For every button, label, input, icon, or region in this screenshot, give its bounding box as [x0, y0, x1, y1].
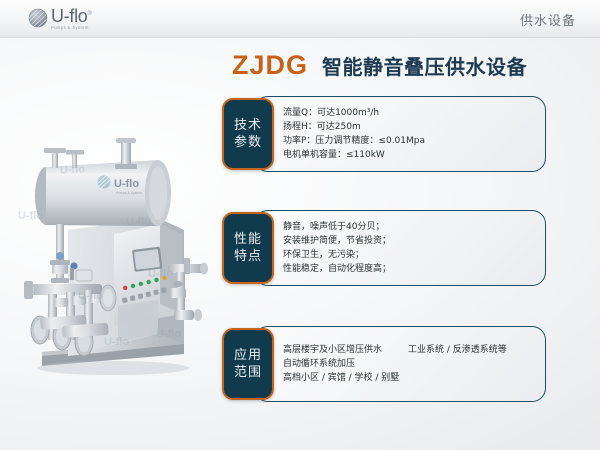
- info-block-applications: 高层楼宇及小区增压供水工业系统 / 反渗透系统等 自动循环系统加压 高档小区 /…: [222, 326, 546, 402]
- label-line-2: 参数: [234, 134, 262, 151]
- spec-line: 流量Q：可达1000m³/h: [283, 106, 425, 120]
- logo-wordmark: U-flo®: [51, 7, 92, 25]
- info-block-features: 静音，噪声低于40分贝； 安装维护简便，节省投资； 环保卫生，无污染； 性能稳定…: [222, 210, 546, 286]
- feature-line: 性能稳定，自动化程度高；: [283, 262, 391, 276]
- info-label-specifications: 技术 参数: [222, 98, 274, 170]
- spec-line: 功率P：压力调节精度：≤0.01Mpa: [283, 134, 425, 148]
- svg-text:Pumps & System: Pumps & System: [116, 191, 142, 195]
- info-text: 高层楼宇及小区增压供水工业系统 / 反渗透系统等 自动循环系统加压 高档小区 /…: [283, 343, 507, 385]
- feature-line: 环保卫生，无污染；: [283, 248, 391, 262]
- label-line-1: 应用: [234, 347, 262, 364]
- info-text: 流量Q：可达1000m³/h 扬程H：可达250m 功率P：压力调节精度：≤0.…: [283, 106, 425, 162]
- label-line-2: 范围: [234, 364, 262, 381]
- feature-line: 静音，噪声低于40分贝；: [283, 220, 391, 234]
- logo-tagline: Pumps & System: [51, 26, 92, 30]
- feature-line: 安装维护简便，节省投资；: [283, 234, 391, 248]
- application-line-primary: 高层楼宇及小区增压供水: [283, 345, 382, 355]
- product-name: 智能静音叠压供水设备: [322, 51, 527, 80]
- label-line-2: 特点: [234, 248, 262, 265]
- registered-mark: ®: [88, 11, 92, 17]
- product-code: ZJDG: [232, 50, 308, 81]
- info-body: 高层楼宇及小区增压供水工业系统 / 反渗透系统等 自动循环系统加压 高档小区 /…: [254, 326, 546, 402]
- brand-logo[interactable]: U-flo® Pumps & System: [28, 7, 92, 30]
- info-body: 静音，噪声低于40分贝； 安装维护简便，节省投资； 环保卫生，无污染； 性能稳定…: [254, 210, 546, 286]
- label-line-1: 性能: [234, 231, 262, 248]
- info-body: 流量Q：可达1000m³/h 扬程H：可达250m 功率P：压力调节精度：≤0.…: [254, 96, 546, 172]
- application-line: 高层楼宇及小区增压供水工业系统 / 反渗透系统等: [283, 343, 507, 357]
- category-label: 供水设备: [520, 10, 576, 29]
- spec-line: 扬程H：可达250m: [283, 120, 425, 134]
- info-label-features: 性能 特点: [222, 212, 274, 284]
- application-line-extra: 工业系统 / 反渗透系统等: [408, 345, 507, 355]
- application-line: 高档小区 / 宾馆 / 学校 / 别墅: [283, 371, 507, 385]
- globe-sphere-icon: [28, 8, 48, 28]
- info-text: 静音，噪声低于40分贝； 安装维护简便，节省投资； 环保卫生，无污染； 性能稳定…: [283, 220, 391, 276]
- product-spec-slide: U-flo® Pumps & System 供水设备 ZJDG 智能静音叠压供水…: [0, 0, 600, 450]
- equipment-illustration: U-flo Pumps & System: [8, 138, 213, 378]
- product-image: U-flo Pumps & System: [8, 138, 213, 378]
- tank-logo-text: U-flo: [114, 178, 139, 190]
- page-title: ZJDG 智能静音叠压供水设备: [232, 50, 527, 81]
- label-line-1: 技术: [234, 117, 262, 134]
- info-block-specifications: 流量Q：可达1000m³/h 扬程H：可达250m 功率P：压力调节精度：≤0.…: [222, 96, 546, 172]
- spec-line: 电机单机容量：≤110kW: [283, 148, 425, 162]
- info-label-applications: 应用 范围: [222, 328, 274, 400]
- page-header: U-flo® Pumps & System 供水设备: [0, 0, 600, 38]
- application-line: 自动循环系统加压: [283, 357, 507, 371]
